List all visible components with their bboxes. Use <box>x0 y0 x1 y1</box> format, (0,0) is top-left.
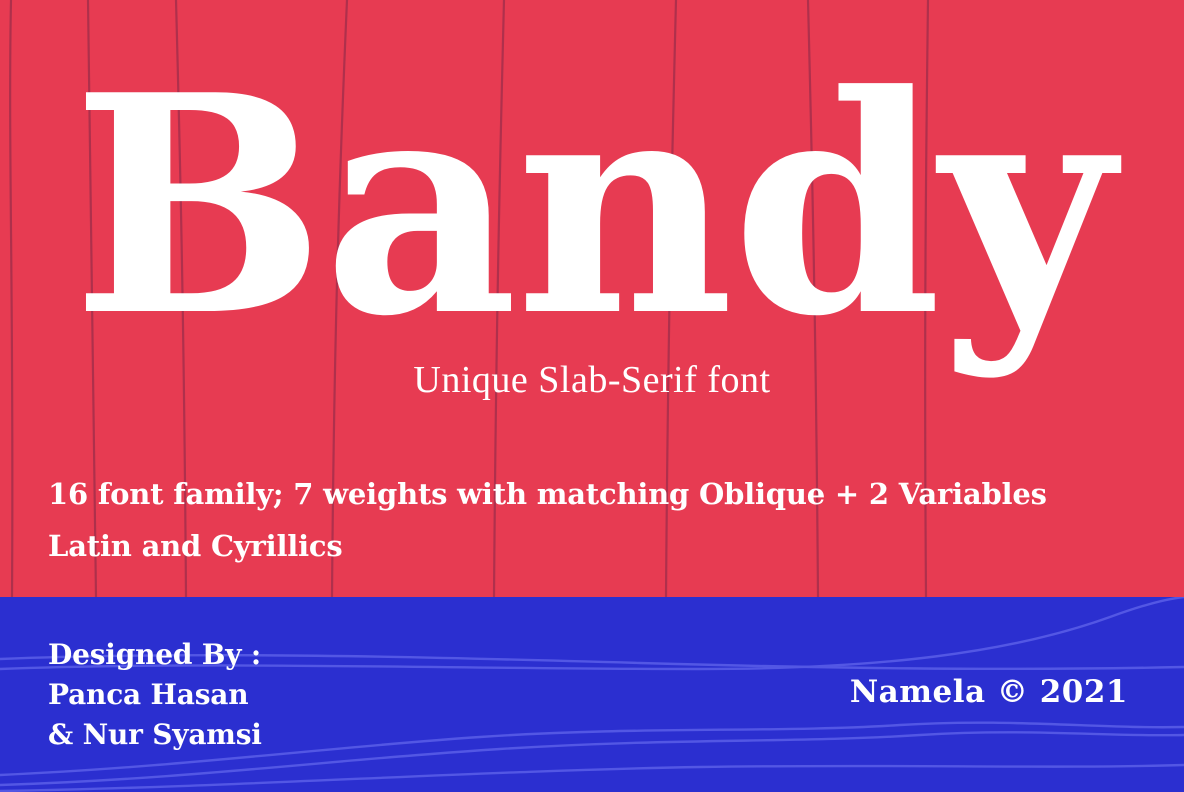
blue-footer-panel: Designed By : Panca Hasan & Nur Syamsi N… <box>0 597 1184 792</box>
credit-line-2: Panca Hasan <box>48 675 262 715</box>
designer-credits: Designed By : Panca Hasan & Nur Syamsi <box>48 635 262 755</box>
credit-line-3: & Nur Syamsi <box>48 715 262 755</box>
feature-line-1: 16 font family; 7 weights with matching … <box>48 468 1108 520</box>
credit-line-1: Designed By : <box>48 635 262 675</box>
font-specimen-poster: Bandy Unique Slab-Serif font 16 font fam… <box>0 0 1184 792</box>
tagline: Unique Slab-Serif font <box>0 357 1184 403</box>
red-background-panel: Bandy Unique Slab-Serif font 16 font fam… <box>0 0 1184 597</box>
feature-line-2: Latin and Cyrillics <box>48 520 1108 572</box>
page-title: Bandy <box>0 56 1184 386</box>
feature-list: 16 font family; 7 weights with matching … <box>48 468 1108 572</box>
wave-line-5 <box>0 765 1184 791</box>
copyright-notice: Namela © 2021 <box>850 673 1128 711</box>
